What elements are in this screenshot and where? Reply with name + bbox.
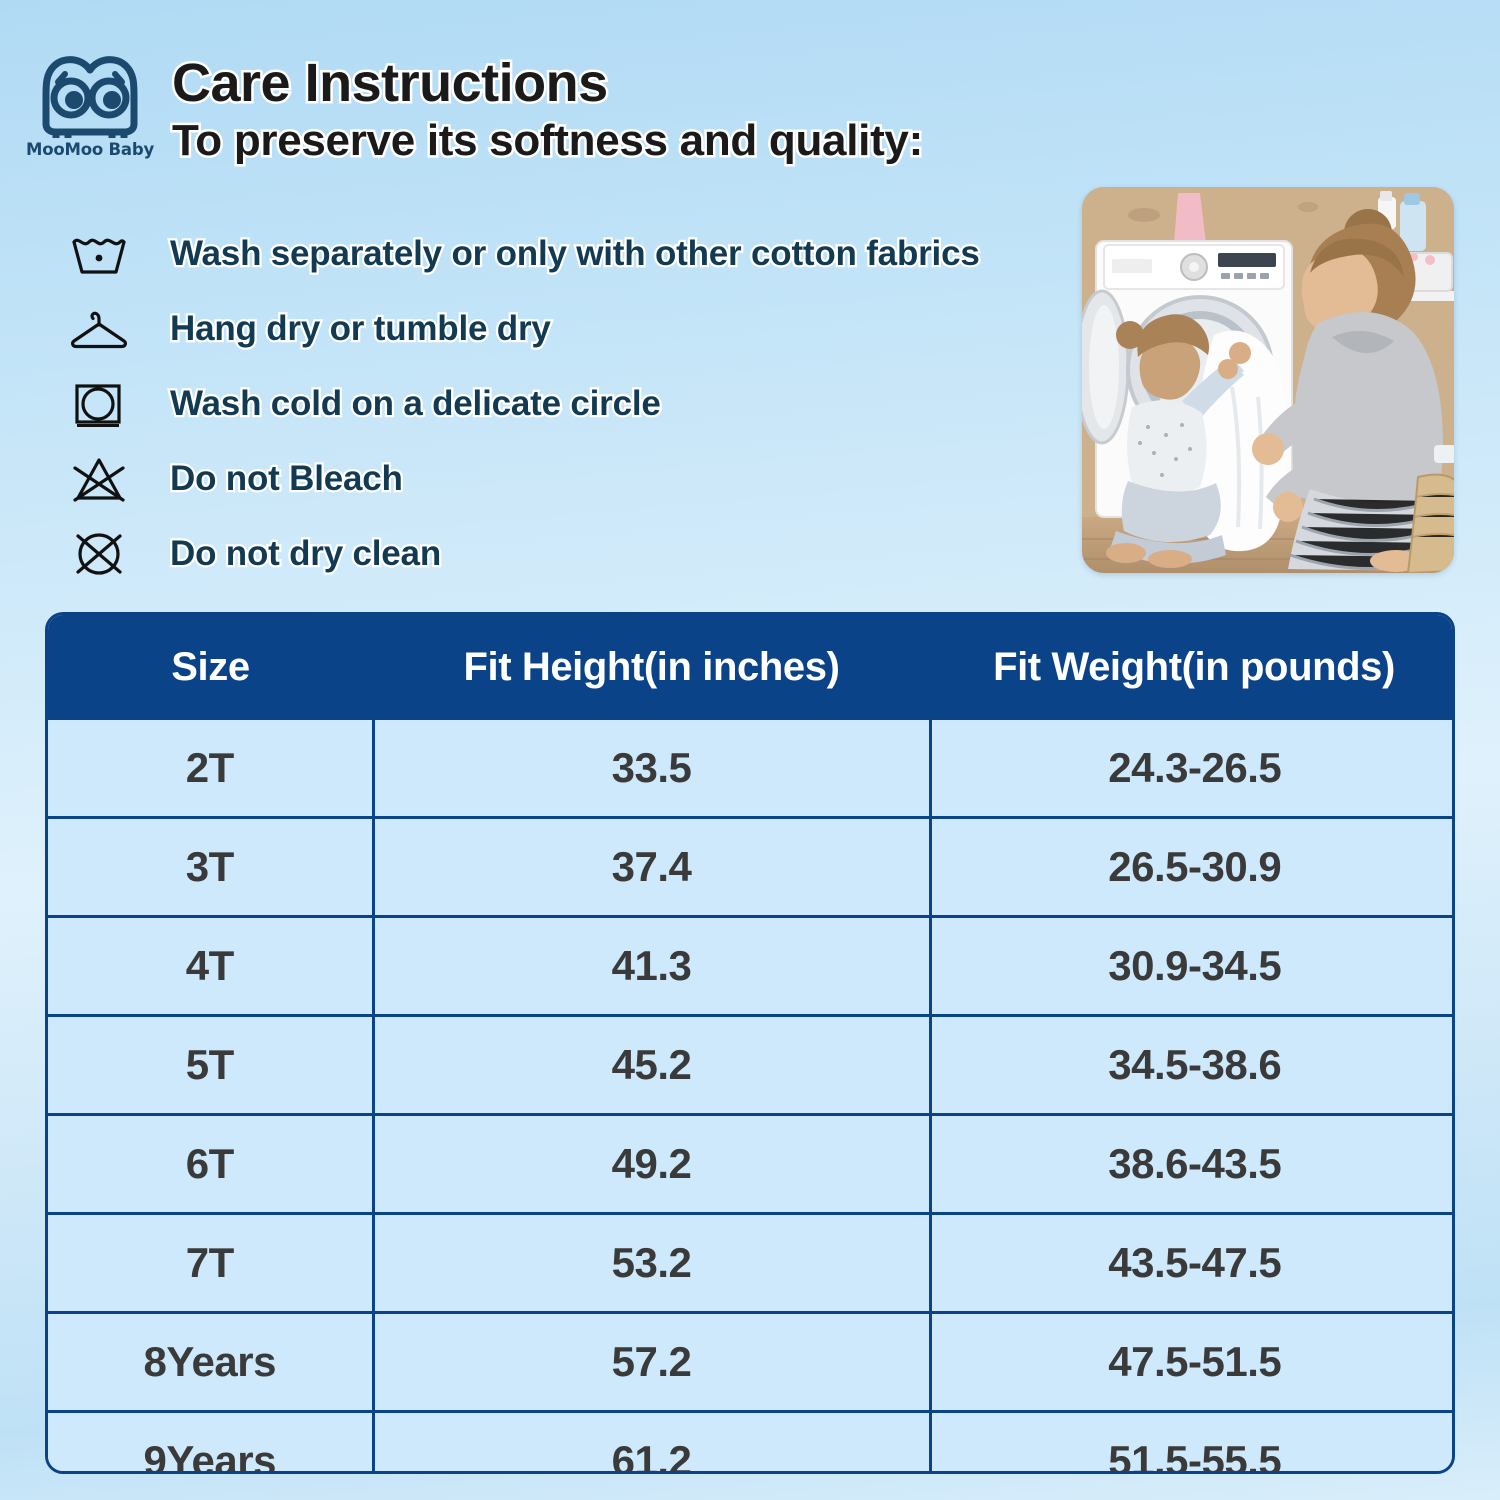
column-header-size: Size: [48, 615, 373, 720]
laundry-photo-illustration: [1082, 187, 1454, 573]
cell-size: 4T: [48, 917, 373, 1016]
table-row: 8Years 57.2 47.5-51.5: [48, 1313, 1455, 1412]
cell-size: 9Years: [48, 1412, 373, 1475]
cell-size: 5T: [48, 1016, 373, 1115]
brand-name: MooMoo Baby: [26, 140, 154, 159]
cell-height: 45.2: [373, 1016, 930, 1115]
page-header: MooMoo Baby Care Instructions To preserv…: [0, 0, 1500, 190]
do-not-dry-clean-icon: [68, 528, 130, 580]
cell-weight: 43.5-47.5: [930, 1214, 1455, 1313]
care-instruction-label: Do not Bleach: [170, 459, 403, 499]
cell-weight: 30.9-34.5: [930, 917, 1455, 1016]
care-instruction-label: Wash cold on a delicate circle: [170, 384, 661, 424]
table-row: 3T 37.4 26.5-30.9: [48, 818, 1455, 917]
laundry-photo: [1082, 187, 1454, 573]
table-header-row: Size Fit Height(in inches) Fit Weight(in…: [48, 615, 1455, 720]
do-not-bleach-icon: [68, 453, 130, 505]
owl-logo-icon: [38, 56, 142, 138]
table-row: 5T 45.2 34.5-38.6: [48, 1016, 1455, 1115]
care-instruction-label: Wash separately or only with other cotto…: [170, 234, 980, 274]
cell-weight: 38.6-43.5: [930, 1115, 1455, 1214]
column-header-weight: Fit Weight(in pounds): [930, 615, 1455, 720]
cell-size: 8Years: [48, 1313, 373, 1412]
care-instruction-item: Wash cold on a delicate circle: [68, 366, 1068, 441]
page-subtitle: To preserve its softness and quality:: [172, 118, 923, 164]
header-titles: Care Instructions To preserve its softne…: [172, 56, 923, 164]
table-row: 7T 53.2 43.5-47.5: [48, 1214, 1455, 1313]
cell-weight: 47.5-51.5: [930, 1313, 1455, 1412]
care-instruction-item: Do not Bleach: [68, 441, 1068, 516]
table-row: 9Years 61.2 51.5-55.5: [48, 1412, 1455, 1475]
cell-weight: 51.5-55.5: [930, 1412, 1455, 1475]
care-instruction-item: Hang dry or tumble dry: [68, 291, 1068, 366]
care-instruction-label: Do not dry clean: [170, 534, 441, 574]
cell-height: 37.4: [373, 818, 930, 917]
care-instruction-list: Wash separately or only with other cotto…: [68, 216, 1068, 591]
column-header-height: Fit Height(in inches): [373, 615, 930, 720]
cell-size: 6T: [48, 1115, 373, 1214]
tumble-dry-icon: [68, 378, 130, 430]
care-instruction-label: Hang dry or tumble dry: [170, 309, 551, 349]
brand-logo: MooMoo Baby: [30, 56, 150, 171]
cell-height: 33.5: [373, 720, 930, 818]
table-row: 4T 41.3 30.9-34.5: [48, 917, 1455, 1016]
cell-size: 7T: [48, 1214, 373, 1313]
table-row: 6T 49.2 38.6-43.5: [48, 1115, 1455, 1214]
wash-tub-icon: [68, 228, 130, 280]
cell-weight: 26.5-30.9: [930, 818, 1455, 917]
cell-size: 2T: [48, 720, 373, 818]
care-instruction-item: Do not dry clean: [68, 516, 1068, 591]
cell-height: 49.2: [373, 1115, 930, 1214]
table-row: 2T 33.5 24.3-26.5: [48, 720, 1455, 818]
cell-height: 53.2: [373, 1214, 930, 1313]
cell-height: 57.2: [373, 1313, 930, 1412]
cell-height: 41.3: [373, 917, 930, 1016]
hanger-icon: [68, 303, 130, 355]
care-instruction-item: Wash separately or only with other cotto…: [68, 216, 1068, 291]
page-title: Care Instructions: [172, 56, 923, 110]
cell-size: 3T: [48, 818, 373, 917]
cell-weight: 34.5-38.6: [930, 1016, 1455, 1115]
cell-height: 61.2: [373, 1412, 930, 1475]
cell-weight: 24.3-26.5: [930, 720, 1455, 818]
size-chart-table: Size Fit Height(in inches) Fit Weight(in…: [45, 612, 1455, 1474]
